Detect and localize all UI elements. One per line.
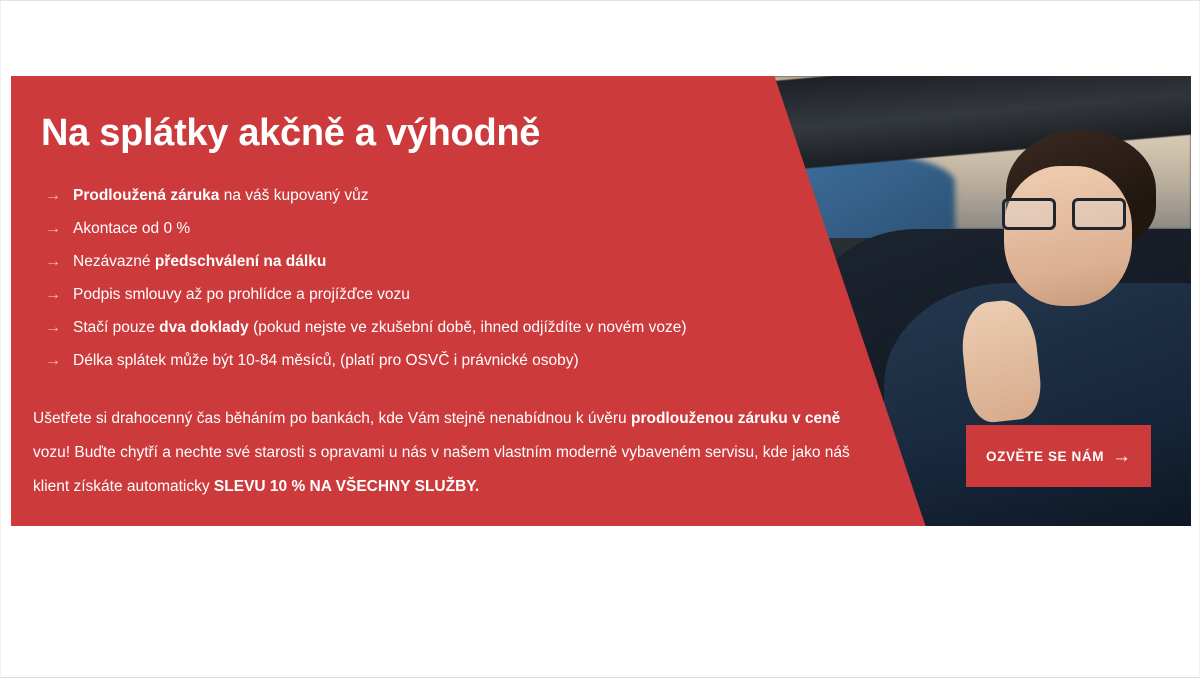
list-item: → Délka splátek může být 10-84 měsíců, (… (45, 352, 686, 385)
contact-us-button-label: OZVĚTE SE NÁM (986, 449, 1104, 464)
arrow-right-icon: → (1112, 447, 1131, 466)
list-item-label: Akontace od 0 % (73, 220, 190, 238)
promo-paragraph: Ušetřete si drahocenný čas běháním po ba… (33, 402, 863, 504)
arrow-right-icon: → (45, 187, 73, 205)
list-item-rest: na váš kupovaný vůz (219, 187, 368, 204)
list-item-rest: Akontace od 0 % (73, 220, 190, 237)
list-item: → Akontace od 0 % (45, 220, 686, 253)
promo-banner: Na splátky akčně a výhodně → Prodloužená… (11, 76, 1191, 526)
arrow-right-icon: → (45, 220, 73, 238)
list-item-label: Podpis smlouvy až po prohlídce a projížď… (73, 286, 410, 304)
paragraph-emphasis-1: prodlouženou záruku v ceně (631, 410, 840, 427)
list-item-label: Prodloužená záruka na váš kupovaný vůz (73, 187, 369, 205)
list-item-rest: Podpis smlouvy až po prohlídce a projížď… (73, 286, 410, 303)
list-item-rest: Délka splátek může být 10-84 měsíců, (pl… (73, 352, 579, 369)
benefits-list: → Prodloužená záruka na váš kupovaný vůz… (45, 187, 686, 385)
list-item-emphasis: Prodloužená záruka (73, 187, 219, 204)
page-root: Na splátky akčně a výhodně → Prodloužená… (0, 0, 1200, 678)
arrow-right-icon: → (45, 319, 73, 337)
arrow-right-icon: → (45, 286, 73, 304)
arrow-right-icon: → (45, 253, 73, 271)
list-item: → Podpis smlouvy až po prohlídce a projí… (45, 286, 686, 319)
list-item-tail: (pokud nejste ve zkušební době, ihned od… (249, 319, 687, 336)
list-item: → Stačí pouze dva doklady (pokud nejste … (45, 319, 686, 352)
list-item-rest: Stačí pouze (73, 319, 159, 336)
list-item-emphasis: předschválení na dálku (155, 253, 326, 270)
paragraph-part-1: Ušetřete si drahocenný čas běháním po ba… (33, 410, 631, 427)
page-title: Na splátky akčně a výhodně (41, 112, 540, 155)
list-item-label: Délka splátek může být 10-84 měsíců, (pl… (73, 352, 579, 370)
paragraph-emphasis-2: SLEVU 10 % NA VŠECHNY SLUŽBY. (214, 478, 479, 495)
list-item-label: Nezávazné předschválení na dálku (73, 253, 326, 271)
list-item: → Nezávazné předschválení na dálku (45, 253, 686, 286)
list-item-label: Stačí pouze dva doklady (pokud nejste ve… (73, 319, 686, 337)
list-item-rest: Nezávazné (73, 253, 155, 270)
contact-us-button[interactable]: OZVĚTE SE NÁM → (966, 425, 1151, 487)
arrow-right-icon: → (45, 352, 73, 370)
list-item-emphasis: dva doklady (159, 319, 249, 336)
list-item: → Prodloužená záruka na váš kupovaný vůz (45, 187, 686, 220)
